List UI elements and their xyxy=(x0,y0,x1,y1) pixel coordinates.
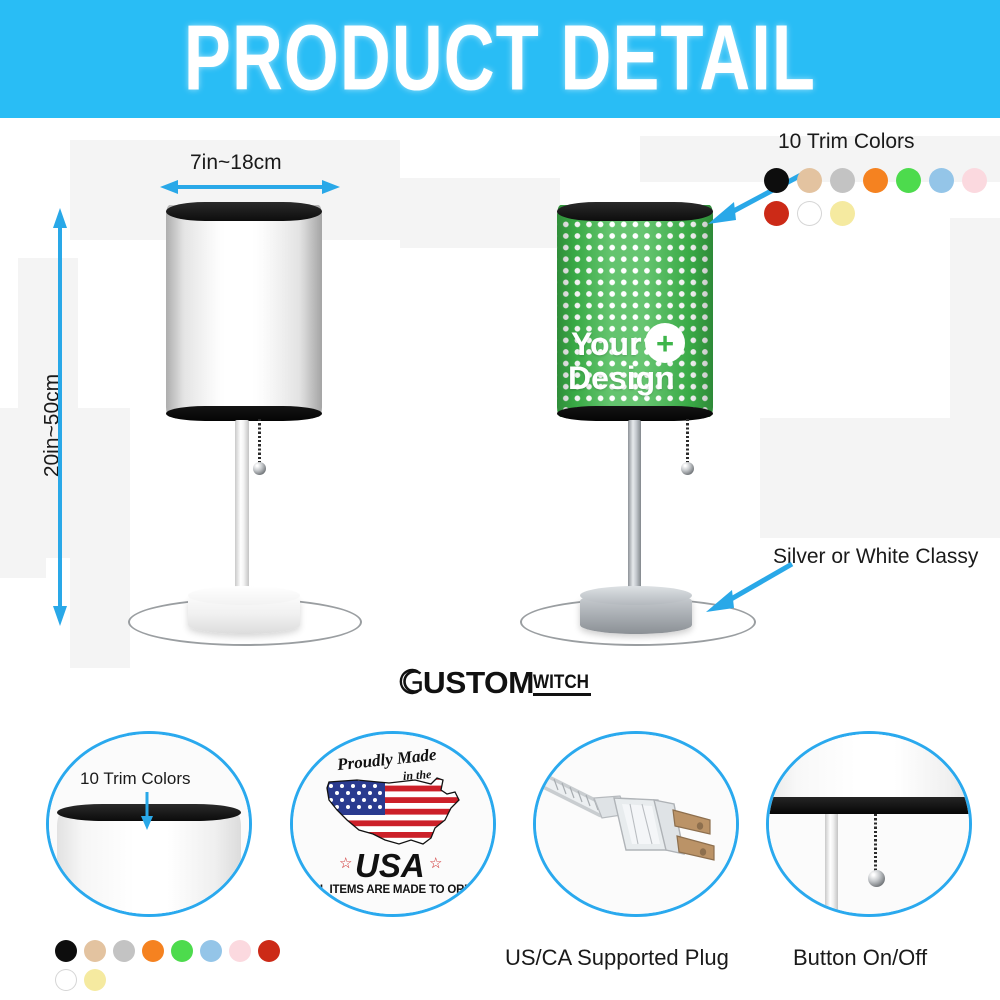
green-lamp-base-top xyxy=(580,586,692,605)
trim-swatch-red[interactable] xyxy=(764,201,789,226)
white-lamp-base-top xyxy=(188,586,300,605)
bg-patch xyxy=(400,178,560,248)
feature-caption-plug: US/CA Supported Plug xyxy=(505,947,729,969)
bg-patch xyxy=(760,418,1000,538)
trim-color-swatches-top[interactable] xyxy=(764,168,1000,226)
trim-colors-heading-top: 10 Trim Colors xyxy=(778,131,915,152)
feature-circle-switch xyxy=(766,731,972,917)
green-lamp-top-trim xyxy=(557,202,713,221)
width-dimension-label: 7in~18cm xyxy=(190,152,282,173)
green-lamp-shade: Your + Design xyxy=(557,205,713,417)
trim-swatch-pink[interactable] xyxy=(962,168,987,193)
trim-swatch-light-blue[interactable] xyxy=(200,940,222,962)
switch-detail-shade xyxy=(766,731,972,800)
trim-swatch-red[interactable] xyxy=(258,940,280,962)
trim-color-swatches-bottom[interactable] xyxy=(55,940,295,991)
trim-swatch-black[interactable] xyxy=(764,168,789,193)
trim-swatch-gray[interactable] xyxy=(113,940,135,962)
shade-surface xyxy=(166,205,322,417)
green-lamp-pull-chain[interactable] xyxy=(686,419,689,466)
green-lamp-pole xyxy=(628,420,641,600)
white-lamp-pull-chain[interactable] xyxy=(258,419,261,466)
bg-patch xyxy=(0,408,46,578)
usa-badge-title: USA xyxy=(355,847,425,885)
trim-swatch-tan[interactable] xyxy=(797,168,822,193)
page-header-banner: PRODUCT DETAIL xyxy=(0,0,1000,118)
trim-swatch-yellow[interactable] xyxy=(84,969,106,991)
trim-swatch-white[interactable] xyxy=(797,201,822,226)
bg-patch xyxy=(950,218,1000,418)
pull-chain-ball[interactable] xyxy=(868,870,885,887)
switch-detail-pole xyxy=(825,814,838,914)
trim-swatch-green[interactable] xyxy=(171,940,193,962)
brand-name-secondary-wrap: WITCH xyxy=(533,673,595,697)
trim-swatch-pink[interactable] xyxy=(229,940,251,962)
feature-caption-switch: Button On/Off xyxy=(793,947,927,969)
trim-swatch-orange[interactable] xyxy=(863,168,888,193)
trim-swatch-green[interactable] xyxy=(896,168,921,193)
trim-swatch-yellow[interactable] xyxy=(830,201,855,226)
trim-swatch-tan[interactable] xyxy=(84,940,106,962)
add-design-plus-icon[interactable]: + xyxy=(645,323,685,363)
trim-swatch-light-blue[interactable] xyxy=(929,168,954,193)
product-detail-infographic: PRODUCT DETAIL 7in~18cm 20in~50cm xyxy=(0,0,1000,1000)
usa-star-right: ☆ xyxy=(429,854,442,872)
design-text-line2: Design xyxy=(568,363,675,394)
feature-label-trim-colors: 10 Trim Colors xyxy=(80,770,191,787)
brand-logo: USTOM WITCH xyxy=(396,666,595,697)
feature-circle-made-in-usa: Proudly Made in the xyxy=(290,731,496,917)
page-title: PRODUCT DETAIL xyxy=(184,13,816,106)
feature-circle-plug xyxy=(533,731,739,917)
white-lamp-shade xyxy=(166,205,322,417)
base-finish-label: Silver or White Classy xyxy=(773,546,978,567)
trim-swatch-orange[interactable] xyxy=(142,940,164,962)
usa-flag-map-icon xyxy=(319,774,469,850)
green-lamp-bottom-trim xyxy=(557,406,713,421)
white-lamp-pole xyxy=(235,420,249,600)
brand-name-primary: USTOM xyxy=(423,668,534,697)
pull-chain-switch-icon[interactable] xyxy=(874,814,877,874)
switch-detail-trim xyxy=(766,797,972,814)
white-lamp-top-trim xyxy=(166,202,322,221)
trim-swatch-white[interactable] xyxy=(55,969,77,991)
two-prong-plug-icon xyxy=(542,758,732,890)
width-dimension-arrow xyxy=(160,176,340,198)
white-lamp-bottom-trim xyxy=(166,406,322,421)
trim-swatch-black[interactable] xyxy=(55,940,77,962)
bg-patch xyxy=(70,408,130,668)
usa-badge: Proudly Made in the xyxy=(293,734,493,914)
green-lamp-chain-ball[interactable] xyxy=(681,462,694,475)
brand-name-secondary: WITCH xyxy=(533,673,589,692)
height-dimension-arrow xyxy=(49,208,71,626)
design-text-line1: Your xyxy=(571,329,642,360)
trim-colors-down-arrow xyxy=(138,792,156,830)
base-finish-pointer-arrow xyxy=(700,560,800,616)
white-lamp-chain-ball[interactable] xyxy=(253,462,266,475)
usa-badge-subtitle: ALL ITEMS ARE MADE TO ORDER! xyxy=(305,884,492,896)
usa-star-left: ☆ xyxy=(339,854,352,872)
trim-swatch-gray[interactable] xyxy=(830,168,855,193)
c-monogram-icon xyxy=(396,666,426,697)
logo-underline xyxy=(533,693,591,696)
